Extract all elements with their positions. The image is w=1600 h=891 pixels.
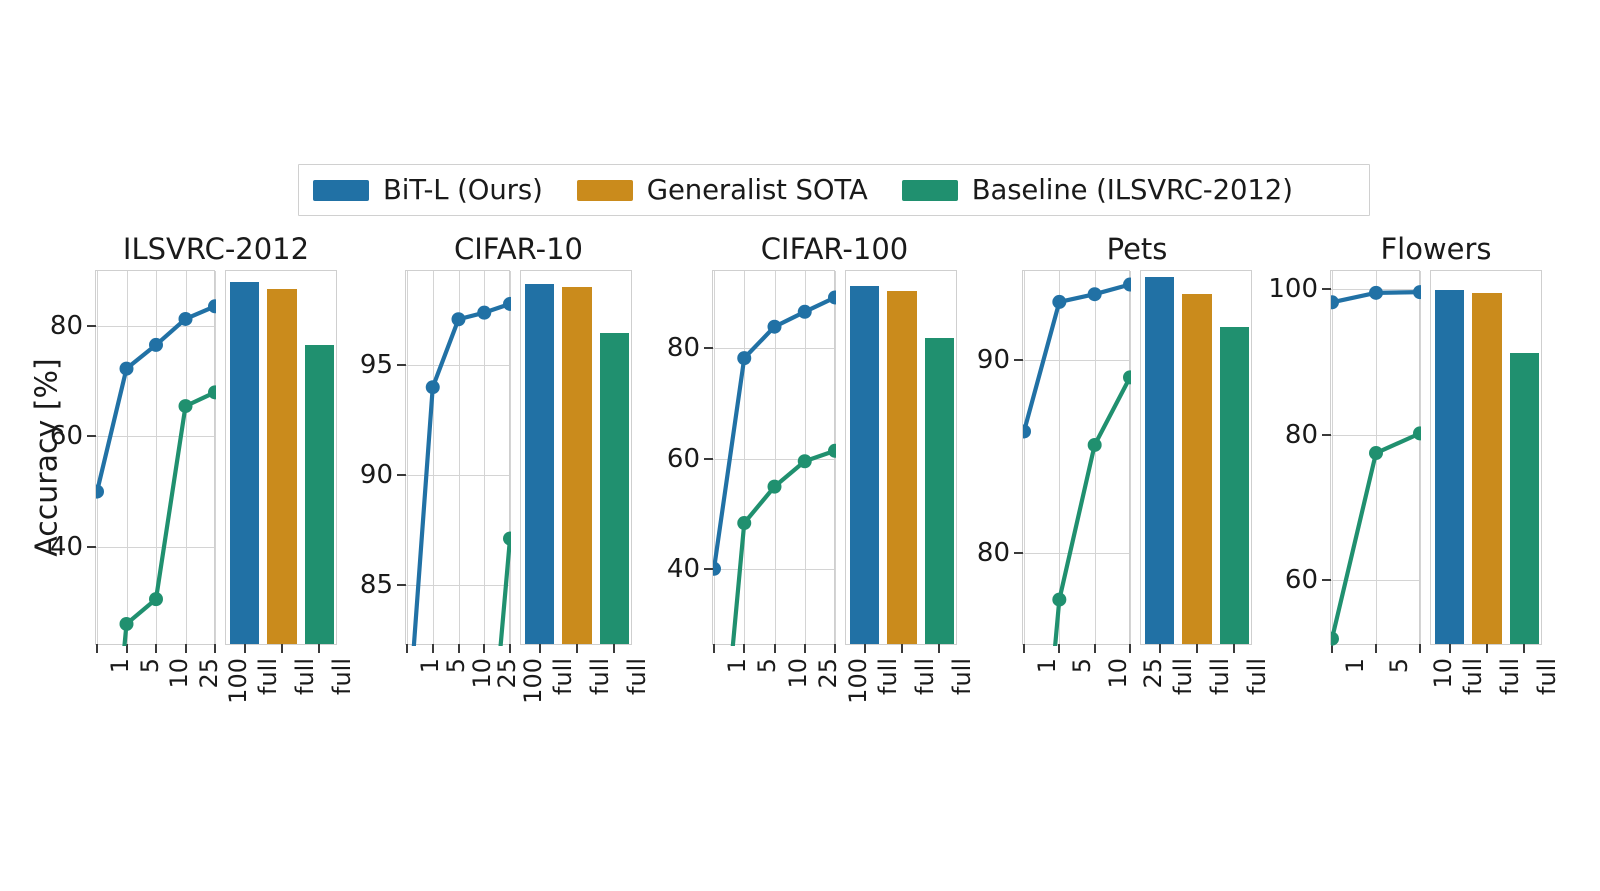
- series-marker: [737, 351, 751, 365]
- y-tick-label: 60: [1285, 565, 1318, 595]
- line-axes: 406080151025100: [95, 270, 215, 645]
- x-tick-mark: [1523, 644, 1525, 653]
- x-tick-label: full: [291, 658, 319, 695]
- x-tick-mark: [901, 644, 903, 653]
- y-tick-label: 40: [50, 532, 83, 562]
- series-marker: [477, 306, 491, 320]
- series-marker: [149, 338, 163, 352]
- panel-title: CIFAR-10: [405, 232, 632, 266]
- x-tick-label: 25: [814, 658, 842, 689]
- y-tick-mark: [704, 458, 713, 460]
- bar: [850, 286, 879, 644]
- y-tick-mark: [1322, 434, 1331, 436]
- panel-title: Pets: [1022, 232, 1252, 266]
- y-tick-label: 100: [1268, 274, 1318, 304]
- y-tick-label: 90: [977, 345, 1010, 375]
- y-tick-mark: [1014, 359, 1023, 361]
- bar: [1510, 353, 1539, 644]
- legend-swatch-bit-l: [313, 180, 369, 201]
- line-axes: 60801001510: [1330, 270, 1420, 645]
- series-marker: [1017, 424, 1031, 438]
- series-marker: [737, 516, 751, 530]
- series-marker: [1369, 446, 1383, 460]
- x-tick-mark: [864, 644, 866, 653]
- y-tick-label: 80: [1285, 420, 1318, 450]
- x-tick-label: 10: [784, 658, 812, 689]
- x-tick-label: full: [1206, 658, 1234, 695]
- chart-legend: BiT-L (Ours) Generalist SOTA Baseline (I…: [298, 164, 1370, 216]
- x-tick-label: 25: [493, 658, 521, 689]
- axes-row: 8090151025fullfullfull: [1022, 270, 1252, 645]
- series-line: [93, 392, 215, 891]
- x-tick-mark: [281, 644, 283, 653]
- y-tick-mark: [1322, 288, 1331, 290]
- x-tick-mark: [613, 644, 615, 653]
- series-line: [1019, 377, 1130, 891]
- x-tick-label: full: [1459, 658, 1487, 695]
- bar: [887, 291, 916, 644]
- x-tick-mark: [539, 644, 541, 653]
- x-tick-label: full: [948, 658, 976, 695]
- axes-row: 859095151025100fullfullfull: [405, 270, 632, 645]
- y-tick-label: 40: [667, 554, 700, 584]
- series-marker: [179, 399, 193, 413]
- bar-axes: fullfullfull: [845, 270, 957, 645]
- x-tick-label: full: [1169, 658, 1197, 695]
- legend-swatch-baseline: [902, 180, 958, 201]
- series-line: [403, 304, 510, 793]
- series-layer: [1023, 271, 1131, 646]
- bar-axes: fullfullfull: [1140, 270, 1252, 645]
- y-tick-label: 60: [50, 421, 83, 451]
- x-tick-label: 5: [753, 658, 781, 673]
- series-marker: [208, 385, 222, 399]
- series-marker: [1413, 285, 1427, 299]
- y-tick-label: 80: [977, 538, 1010, 568]
- series-marker: [179, 312, 193, 326]
- x-tick-mark: [1233, 644, 1235, 653]
- x-tick-label: 10: [1104, 658, 1132, 689]
- series-layer: [1331, 271, 1421, 646]
- y-tick-mark: [1322, 579, 1331, 581]
- bar: [230, 282, 259, 644]
- series-marker: [1052, 593, 1066, 607]
- x-tick-label: 5: [442, 658, 470, 673]
- line-axes: 406080151025100: [712, 270, 835, 645]
- legend-entry-generalist-sota: Generalist SOTA: [577, 174, 868, 206]
- series-line: [480, 539, 510, 877]
- bar: [1145, 277, 1174, 644]
- series-marker: [798, 454, 812, 468]
- bar: [600, 333, 629, 644]
- x-tick-label: full: [254, 658, 282, 695]
- series-marker: [1088, 287, 1102, 301]
- x-tick-mark: [244, 644, 246, 653]
- x-tick-label: full: [911, 658, 939, 695]
- series-marker: [1325, 295, 1339, 309]
- x-tick-mark: [1486, 644, 1488, 653]
- x-tick-label: full: [874, 658, 902, 695]
- panel-title: Flowers: [1330, 232, 1542, 266]
- line-axes: 859095151025100: [405, 270, 510, 645]
- x-tick-label: full: [1496, 658, 1524, 695]
- y-tick-label: 80: [50, 311, 83, 341]
- series-line: [714, 297, 835, 568]
- x-tick-label: full: [328, 658, 356, 695]
- x-tick-mark: [1196, 644, 1198, 653]
- x-tick-label: 1: [106, 658, 134, 673]
- series-marker: [828, 444, 842, 458]
- series-marker: [768, 480, 782, 494]
- bar: [305, 345, 334, 644]
- y-tick-mark: [397, 364, 406, 366]
- axes-row: 406080151025100fullfullfull: [712, 270, 957, 645]
- bar: [267, 289, 296, 644]
- x-tick-label: 10: [468, 658, 496, 689]
- y-tick-mark: [704, 568, 713, 570]
- x-tick-mark: [576, 644, 578, 653]
- series-marker: [503, 532, 517, 546]
- y-tick-label: 90: [360, 460, 393, 490]
- y-tick-mark: [87, 325, 96, 327]
- axes-row: 406080151025100fullfullfull: [95, 270, 337, 645]
- legend-swatch-generalist-sota: [577, 180, 633, 201]
- series-marker: [798, 305, 812, 319]
- x-tick-label: 100: [844, 658, 872, 704]
- series-marker: [1123, 370, 1137, 384]
- series-marker: [426, 380, 440, 394]
- legend-label-bit-l: BiT-L (Ours): [383, 174, 543, 206]
- x-tick-label: full: [586, 658, 614, 695]
- x-tick-label: 10: [1429, 658, 1457, 689]
- series-line: [1332, 433, 1420, 638]
- x-tick-mark: [938, 644, 940, 653]
- x-tick-label: full: [1243, 658, 1271, 695]
- bar-axes: fullfullfull: [520, 270, 632, 645]
- series-marker: [1325, 632, 1339, 646]
- x-tick-label: full: [549, 658, 577, 695]
- bar: [1435, 290, 1464, 644]
- y-tick-label: 85: [360, 570, 393, 600]
- series-marker: [1123, 278, 1137, 292]
- series-marker: [452, 312, 466, 326]
- legend-entry-bit-l: BiT-L (Ours): [313, 174, 543, 206]
- y-tick-mark: [87, 435, 96, 437]
- y-tick-label: 95: [360, 350, 393, 380]
- y-tick-mark: [397, 584, 406, 586]
- x-tick-label: 25: [1139, 658, 1167, 689]
- axes-row: 60801001510fullfullfull: [1330, 270, 1542, 645]
- x-tick-label: 1: [416, 658, 444, 673]
- x-tick-label: 100: [519, 658, 547, 704]
- x-tick-label: 5: [1068, 658, 1096, 673]
- series-marker: [768, 320, 782, 334]
- series-marker: [149, 592, 163, 606]
- y-tick-label: 60: [667, 444, 700, 474]
- x-tick-label: 5: [136, 658, 164, 673]
- bar-axes: fullfullfull: [1430, 270, 1542, 645]
- legend-entry-baseline: Baseline (ILSVRC-2012): [902, 174, 1293, 206]
- series-marker: [120, 617, 134, 631]
- bar: [1220, 327, 1249, 644]
- y-tick-mark: [704, 347, 713, 349]
- series-marker: [120, 362, 134, 376]
- x-tick-mark: [1449, 644, 1451, 653]
- figure-root: BiT-L (Ours) Generalist SOTA Baseline (I…: [0, 0, 1600, 891]
- x-tick-label: 100: [224, 658, 252, 704]
- x-tick-label: 1: [1341, 658, 1369, 673]
- x-tick-label: full: [1533, 658, 1561, 695]
- bar: [562, 287, 591, 644]
- y-tick-label: 80: [667, 333, 700, 363]
- series-marker: [1088, 438, 1102, 452]
- x-tick-label: 5: [1385, 658, 1413, 673]
- y-tick-mark: [397, 474, 406, 476]
- series-layer: [713, 271, 836, 646]
- x-tick-label: 10: [165, 658, 193, 689]
- legend-label-generalist-sota: Generalist SOTA: [647, 174, 868, 206]
- series-marker: [1052, 295, 1066, 309]
- series-marker: [1369, 286, 1383, 300]
- series-marker: [503, 297, 517, 311]
- bar: [525, 284, 554, 644]
- x-tick-mark: [318, 644, 320, 653]
- x-tick-mark: [1159, 644, 1161, 653]
- bar-axes: fullfullfull: [225, 270, 337, 645]
- y-tick-mark: [1014, 552, 1023, 554]
- series-marker: [208, 299, 222, 313]
- series-marker: [90, 485, 104, 499]
- bar: [925, 338, 954, 644]
- series-marker: [1413, 426, 1427, 440]
- series-layer: [96, 271, 216, 646]
- bar: [1472, 293, 1501, 644]
- x-tick-label: 1: [1033, 658, 1061, 673]
- legend-label-baseline: Baseline (ILSVRC-2012): [972, 174, 1293, 206]
- y-tick-mark: [87, 546, 96, 548]
- bar: [1182, 294, 1211, 644]
- panel-title: ILSVRC-2012: [95, 232, 337, 266]
- x-tick-label: full: [623, 658, 651, 695]
- line-axes: 8090151025: [1022, 270, 1130, 645]
- series-marker: [828, 290, 842, 304]
- x-tick-label: 1: [723, 658, 751, 673]
- panel-title: CIFAR-100: [712, 232, 957, 266]
- series-layer: [406, 271, 511, 646]
- x-tick-label: 25: [195, 658, 223, 689]
